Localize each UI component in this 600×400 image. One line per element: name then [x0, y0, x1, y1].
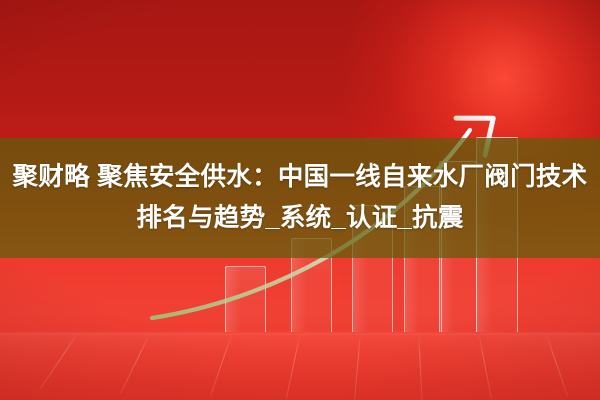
banner-image: 聚财略 聚焦安全供水：中国一线自来水厂阀门技术 排名与趋势_系统_认证_抗震 — [0, 0, 600, 400]
caption-band: 聚财略 聚焦安全供水：中国一线自来水厂阀门技术 排名与趋势_系统_认证_抗震 — [0, 138, 600, 258]
caption-line-2: 排名与趋势_系统_认证_抗震 — [136, 198, 463, 239]
caption-line-1: 聚财略 聚焦安全供水：中国一线自来水厂阀门技术 — [13, 157, 588, 198]
